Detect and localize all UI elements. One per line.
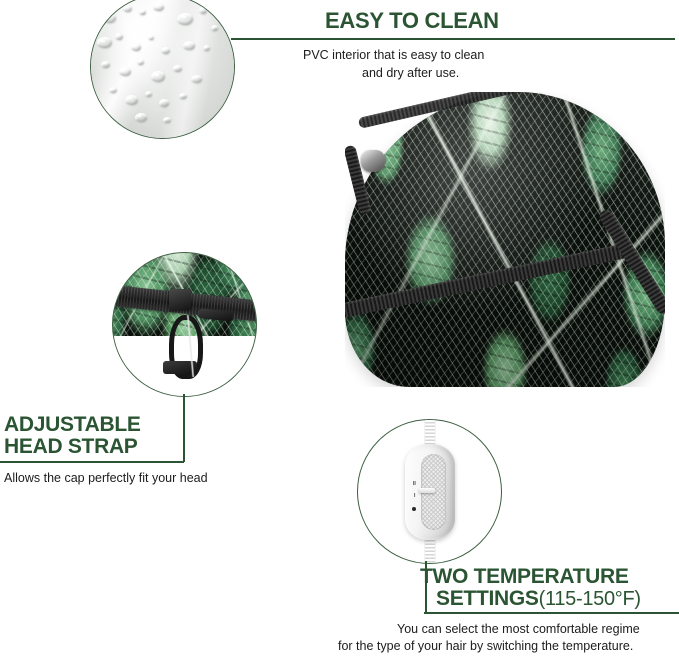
feature-image-adjustable-head-strap (112, 252, 257, 397)
water-droplet (203, 45, 210, 51)
infographic-canvas: EASY TO CLEAN PVC interior that is easy … (0, 0, 679, 652)
water-droplet (125, 95, 138, 105)
water-droplet (131, 43, 141, 51)
feature-image-two-temperature-settings: II I (357, 419, 502, 564)
water-droplet (159, 99, 169, 107)
water-droplet (109, 87, 117, 93)
water-droplet (151, 71, 165, 82)
feature-body-temperature-line2: for the type of your hair by switching t… (338, 638, 633, 656)
water-droplet (148, 35, 154, 40)
connector-line-easy-to-clean (231, 38, 675, 40)
water-droplet (199, 7, 207, 14)
feature-title-adjustable-head-strap-line1: ADJUSTABLE (4, 414, 141, 435)
cap-strap-clip (361, 150, 385, 172)
connector-line-adjustable-vertical (183, 394, 185, 462)
feature-body-easy-to-clean-line2: and dry after use. (362, 65, 459, 83)
water-droplet (173, 65, 182, 72)
water-droplet (211, 25, 218, 31)
controller-mark-high: II (413, 482, 416, 487)
water-droplet (163, 117, 171, 123)
feature-title-easy-to-clean: EASY TO CLEAN (325, 10, 499, 32)
feature-title-temperature-line2: SETTINGS (436, 587, 539, 610)
controller-body: II I (405, 444, 455, 540)
product-image-heated-cap (345, 92, 665, 387)
connector-line-adjustable-horizontal (0, 461, 184, 463)
water-droplet (123, 5, 132, 12)
water-droplet (145, 91, 152, 97)
water-droplet (161, 47, 170, 54)
feature-body-easy-to-clean-line1: PVC interior that is easy to clean (303, 47, 484, 65)
controller-mark-low: I (414, 494, 415, 499)
feature-title-temperature-range: (115-150°F) (539, 588, 641, 610)
water-droplet (191, 75, 202, 83)
water-droplet (153, 3, 164, 11)
controller-cord-bottom (425, 536, 435, 564)
feature-body-temperature-line1: You can select the most comfortable regi… (397, 621, 640, 639)
controller-mark-off (412, 507, 416, 511)
water-droplet (119, 67, 131, 76)
water-droplet (183, 41, 195, 50)
water-droplet (177, 13, 193, 25)
connector-line-temperature-horizontal (424, 612, 679, 614)
controller-slider (419, 488, 435, 493)
water-droplet (101, 61, 110, 68)
feature-title-adjustable-head-strap-line2: HEAD STRAP (4, 436, 138, 457)
water-droplet (137, 59, 144, 65)
water-droplet (179, 93, 187, 99)
water-droplet (115, 33, 123, 40)
strap-buckle (169, 289, 191, 310)
feature-title-temperature-line2-wrap: SETTINGS(115-150°F) (436, 588, 641, 610)
water-droplet (103, 13, 116, 23)
water-droplet (97, 37, 112, 48)
feature-image-easy-to-clean (90, 0, 235, 139)
feature-title-temperature-line1: TWO TEMPERATURE (420, 566, 629, 587)
feature-body-adjustable-head-strap: Allows the cap perfectly fit your head (4, 470, 208, 488)
water-droplet (135, 113, 147, 122)
water-droplet (139, 9, 146, 15)
